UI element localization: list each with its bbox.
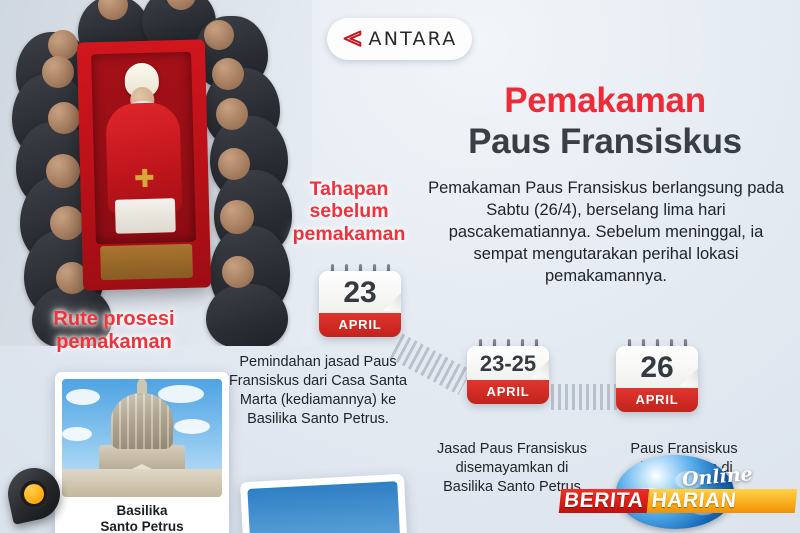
lede-paragraph: Pemakaman Paus Fransiskus berlangsung pa… <box>420 178 792 288</box>
pallbearer-head <box>218 148 250 180</box>
procession-photo <box>0 0 312 346</box>
photo-caption-basilika: Basilika Santo Petrus <box>62 497 222 533</box>
calendar-card-2: 23-25 APRIL <box>467 339 549 404</box>
basilica-facade <box>62 469 222 497</box>
pallbearer-head <box>46 154 80 188</box>
beritaharian-watermark: Online BERITA HARIAN <box>560 452 796 532</box>
pope-vestment <box>105 102 182 214</box>
photo-card-secondary <box>240 474 410 533</box>
calendar-month-2: APRIL <box>467 380 549 404</box>
antara-triangle-icon <box>342 29 362 49</box>
pallbearer-head <box>50 206 84 240</box>
cloud <box>158 385 204 403</box>
section-label-tahapan: Tahapan sebelum pemakaman <box>290 178 408 245</box>
photo-caption-line-2: Santo Petrus <box>62 519 222 533</box>
map-pin-ring <box>20 480 48 508</box>
section-label-rute: Rute prosesi pemakaman <box>14 308 214 354</box>
watermark-bar: BERITA HARIAN <box>559 488 798 514</box>
pope-white-vestment <box>115 198 176 234</box>
connector-arrow-2 <box>551 384 617 410</box>
pallbearer-head <box>212 58 244 90</box>
cloud <box>62 427 92 441</box>
photo-card-basilika: Basilika Santo Petrus <box>55 372 229 533</box>
cloud <box>174 419 210 434</box>
calendar-card-3: 26 APRIL <box>616 339 698 412</box>
coffin-wood-base <box>100 244 193 280</box>
papal-coffin <box>77 39 211 290</box>
pallbearer-head <box>216 98 248 130</box>
antara-logo[interactable]: ANTARA <box>327 18 472 60</box>
calendar-body: 23-25 APRIL <box>467 346 549 404</box>
gold-cross-icon <box>135 169 153 187</box>
calendar-month-3: APRIL <box>616 388 698 412</box>
infographic-canvas: ANTARA Pemakaman Paus Fransiskus Pemakam… <box>0 0 800 533</box>
watermark-online-text: Online <box>681 463 753 491</box>
photo-caption-line-1: Basilika <box>62 503 222 519</box>
pallbearer <box>206 284 288 346</box>
pallbearer-head <box>204 20 234 50</box>
page-title: Pemakaman Paus Fransiskus <box>420 82 790 161</box>
calendar-body: 26 APRIL <box>616 346 698 412</box>
secondary-photo <box>247 481 403 533</box>
calendar-body: 23 APRIL <box>319 271 401 337</box>
dome-ribs <box>111 393 173 449</box>
pallbearer-head <box>222 256 254 288</box>
pallbearer-head <box>48 102 80 134</box>
map-pin-marker <box>8 468 60 533</box>
pallbearer-head <box>48 30 78 60</box>
headline-line-2: Paus Fransiskus <box>420 122 790 161</box>
basilica-dome <box>111 393 173 449</box>
watermark-harian: HARIAN <box>646 489 797 513</box>
pallbearer-head <box>220 200 254 234</box>
watermark-berita: BERITA <box>559 489 649 513</box>
calendar-month-1: APRIL <box>319 313 401 337</box>
basilica-photo <box>62 379 222 497</box>
timeline-caption-1: Pemindahan jasad Paus Fransiskus dari Ca… <box>228 353 408 428</box>
headline-line-1: Pemakaman <box>420 82 790 120</box>
cloud <box>66 389 100 405</box>
antara-logo-text: ANTARA <box>369 28 458 50</box>
calendar-card-1: 23 APRIL <box>319 264 401 337</box>
pallbearer-head <box>42 56 74 88</box>
